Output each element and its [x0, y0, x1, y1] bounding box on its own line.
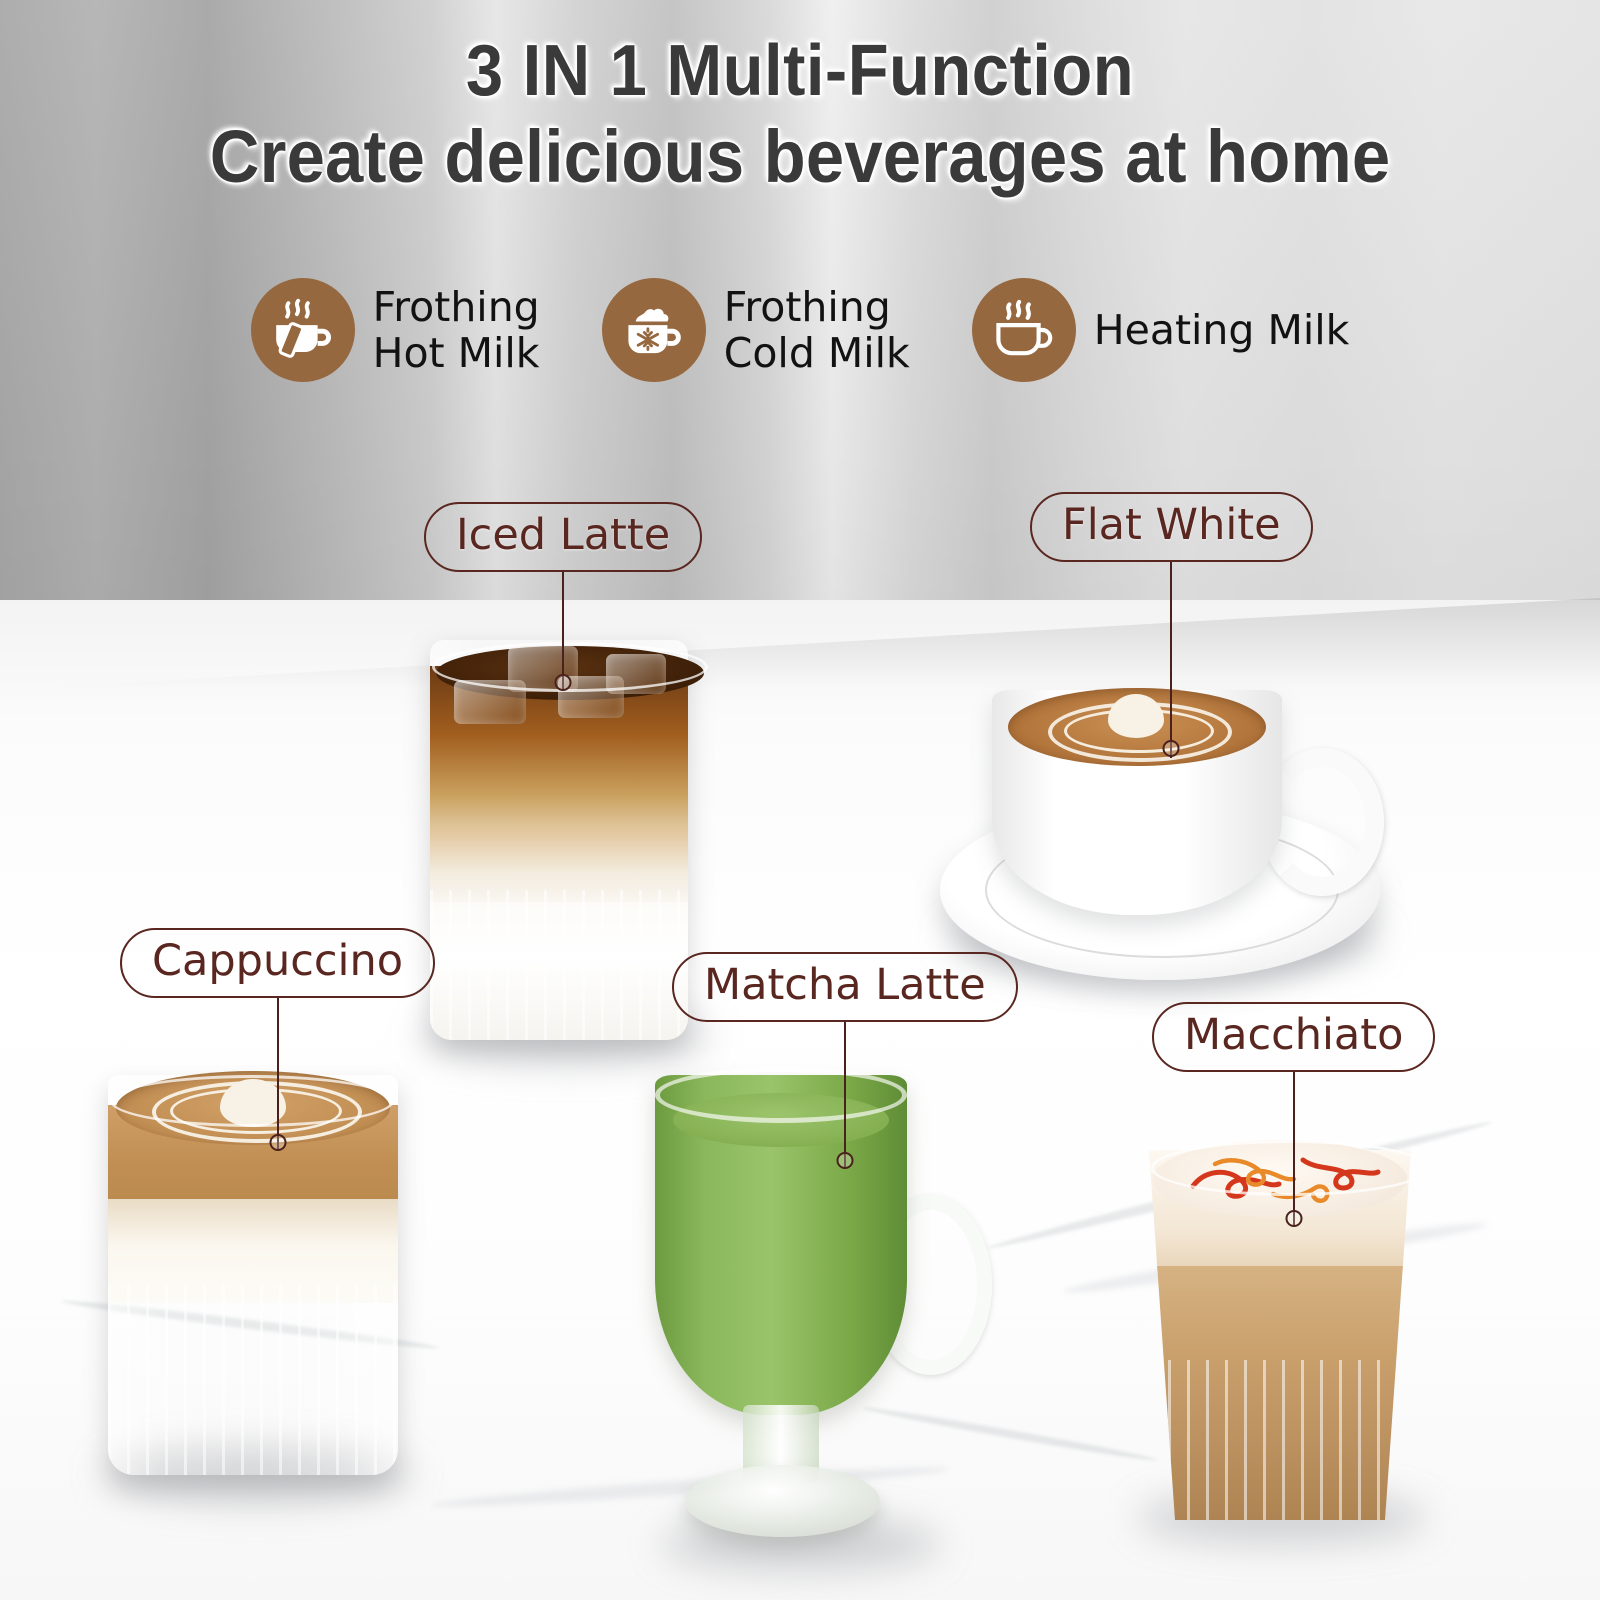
headline-line-2: Create delicious beverages at home [56, 119, 1544, 196]
drink-matcha-latte [655, 1065, 965, 1575]
headline-line-1: 3 IN 1 Multi-Function [56, 34, 1544, 109]
callout-macchiato[interactable]: Macchiato [1152, 1002, 1435, 1072]
callout-flat-white[interactable]: Flat White [1030, 492, 1313, 562]
heating-cup-icon [972, 278, 1076, 382]
feature-frothing-hot-milk: Frothing Hot Milk [251, 278, 540, 382]
callout-matcha-latte[interactable]: Matcha Latte [672, 952, 1018, 1022]
callout-label[interactable]: Matcha Latte [672, 952, 1018, 1022]
callout-label[interactable]: Iced Latte [424, 502, 702, 572]
callout-label[interactable]: Flat White [1030, 492, 1313, 562]
feature-label: Heating Milk [1094, 307, 1350, 353]
callout-label[interactable]: Cappuccino [120, 928, 435, 998]
steaming-mug-with-chocolate-icon [251, 278, 355, 382]
feature-label: Frothing Hot Milk [373, 284, 540, 377]
drink-macchiato [1135, 1140, 1445, 1540]
feature-frothing-cold-milk: Frothing Cold Milk [602, 278, 910, 382]
cold-mug-with-snowflake-icon [602, 278, 706, 382]
callout-cappuccino[interactable]: Cappuccino [120, 928, 435, 998]
feature-heating-milk: Heating Milk [972, 278, 1350, 382]
feature-label: Frothing Cold Milk [724, 284, 910, 377]
headline-block: 3 IN 1 Multi-Function Create delicious b… [0, 34, 1600, 196]
callout-iced-latte[interactable]: Iced Latte [424, 502, 702, 572]
drink-iced-latte [430, 640, 710, 1060]
callout-label[interactable]: Macchiato [1152, 1002, 1435, 1072]
feature-row: Frothing Hot Milk Frothing Cold Mi [0, 278, 1600, 382]
product-feature-image: 3 IN 1 Multi-Function Create delicious b… [0, 0, 1600, 1600]
drink-cappuccino [108, 1075, 408, 1495]
drink-flat-white [930, 690, 1400, 990]
